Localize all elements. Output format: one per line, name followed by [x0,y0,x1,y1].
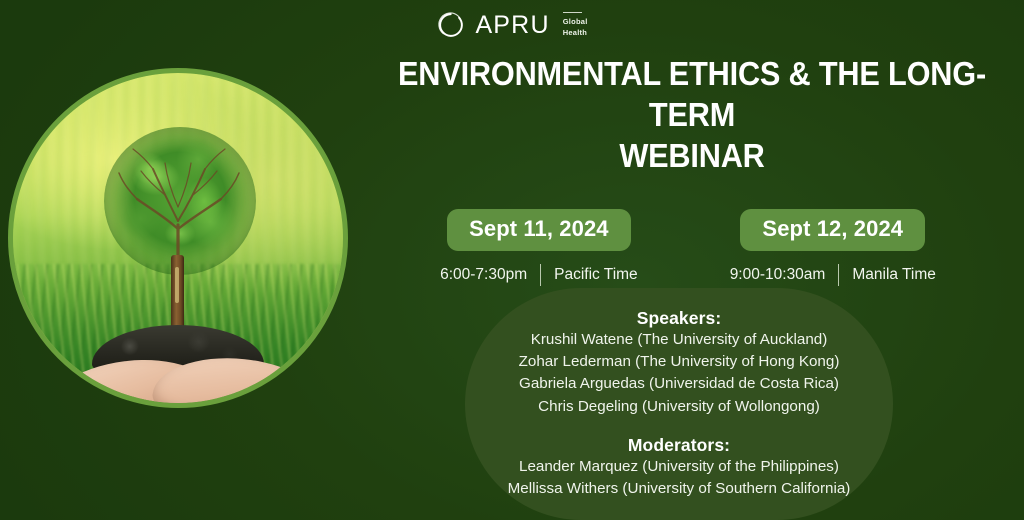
date-meta-2: 9:00-10:30am Manila Time [730,264,936,286]
apru-circle-icon [436,10,466,40]
date-meta-1: 6:00-7:30pm Pacific Time [440,264,638,286]
logo-sub-line-1: Global [563,17,588,27]
timezone-text-2: Manila Time [852,266,936,284]
page-title: ENVIRONMENTAL ETHICS & THE LONG-TERM WEB… [376,54,1008,177]
moderators-heading: Moderators: [628,435,730,456]
speaker-item: Zohar Lederman (The University of Hong K… [519,351,840,373]
apru-sublabel: Global Health [563,12,588,37]
time-text-1: 6:00-7:30pm [440,266,527,284]
meta-divider-1 [540,264,541,286]
moderator-item: Mellissa Withers (University of Southern… [508,478,851,500]
moderator-item: Leander Marquez (University of the Phili… [519,456,839,478]
date-block-2: Sept 12, 2024 9:00-10:30am Manila Time [730,209,936,286]
date-block-1: Sept 11, 2024 6:00-7:30pm Pacific Time [440,209,638,286]
time-text-2: 9:00-10:30am [730,266,826,284]
date-badge-2: Sept 12, 2024 [740,209,925,251]
timezone-text-1: Pacific Time [554,266,638,284]
people-panel: Speakers: Krushil Watene (The University… [465,288,893,520]
speaker-item: Chris Degeling (University of Wollongong… [538,396,820,418]
speaker-item: Krushil Watene (The University of Auckla… [531,329,828,351]
logo-divider [563,12,582,13]
speaker-item: Gabriela Arguedas (Universidad de Costa … [519,373,839,395]
meta-divider-2 [838,264,839,286]
speakers-heading: Speakers: [637,308,722,329]
title-line-2: WEBINAR [376,136,1008,177]
date-row: Sept 11, 2024 6:00-7:30pm Pacific Time S… [352,209,1024,286]
hero-photo-circle [8,68,348,408]
logo-sub-line-2: Health [563,28,588,38]
title-line-1: ENVIRONMENTAL ETHICS & THE LONG-TERM [376,54,1008,136]
date-badge-1: Sept 11, 2024 [447,209,631,251]
apru-logo: APRU Global Health [0,10,1024,40]
webinar-banner: APRU Global Health ENVIRONMENTAL ETHICS … [0,0,1024,520]
apru-wordmark: APRU [475,13,549,38]
content-column: ENVIRONMENTAL ETHICS & THE LONG-TERM WEB… [352,54,1024,520]
people-content: Speakers: Krushil Watene (The University… [465,288,893,520]
hero-photo-image [13,73,343,403]
